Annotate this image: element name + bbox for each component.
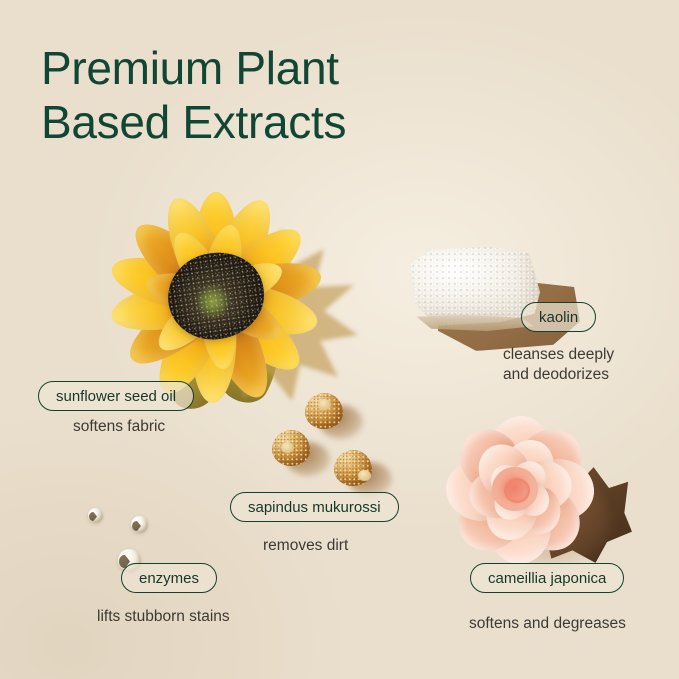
- soap-nut-hilum: [281, 442, 294, 453]
- page-title-line-2: Based Extracts: [41, 95, 346, 149]
- camellia-flower-image: [440, 415, 630, 580]
- label-sapindus-mukurossi[interactable]: sapindus mukurossi: [230, 492, 399, 522]
- sunflower-seed-disc: [162, 247, 269, 346]
- caption-sunflower-seed-oil: softens fabric: [73, 417, 165, 437]
- label-sunflower-seed-oil[interactable]: sunflower seed oil: [38, 381, 194, 411]
- soap-nut-hilum: [318, 399, 331, 410]
- label-enzymes[interactable]: enzymes: [121, 563, 217, 593]
- label-cameillia-japonica[interactable]: cameillia japonica: [470, 563, 624, 593]
- caption-cameillia-japonica: softens and degreases: [469, 614, 626, 634]
- page-title: Premium Plant Based Extracts: [41, 41, 346, 149]
- soap-nut-hilum: [358, 470, 371, 481]
- caption-sapindus-mukurossi: removes dirt: [263, 536, 348, 556]
- page-title-line-1: Premium Plant: [41, 41, 346, 95]
- camellia-center: [492, 467, 538, 511]
- label-kaolin[interactable]: kaolin: [521, 302, 596, 332]
- caption-kaolin: cleanses deeply and deodorizes: [503, 345, 614, 385]
- enzyme-bead-1: [88, 508, 103, 523]
- product-ingredients-poster: Premium Plant Based Extracts: [0, 0, 679, 679]
- enzyme-bead-2: [131, 516, 148, 533]
- sunflower-image: [96, 183, 336, 413]
- kaolin-stone-image: [404, 245, 574, 355]
- caption-enzymes: lifts stubborn stains: [97, 607, 230, 627]
- soap-nut-2: [272, 430, 332, 484]
